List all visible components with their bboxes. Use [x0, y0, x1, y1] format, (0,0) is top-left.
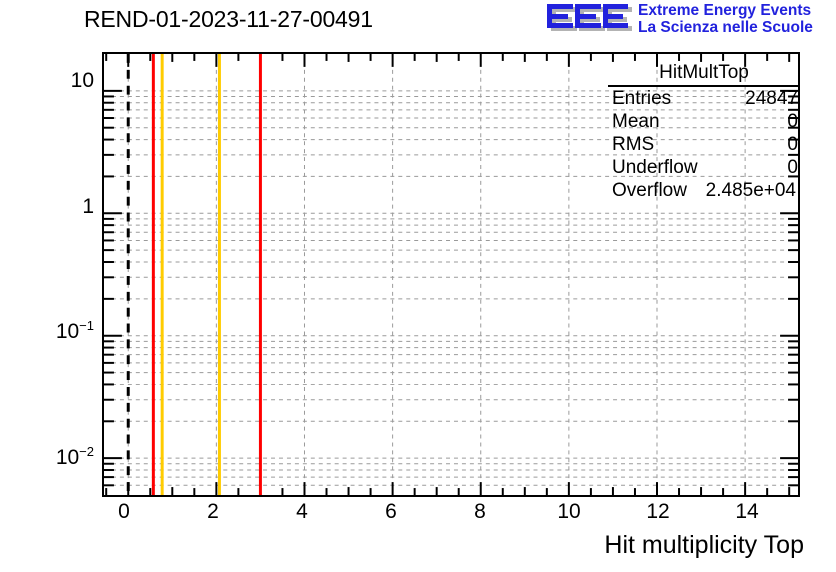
- x-axis-tick-label: 8: [474, 500, 486, 524]
- x-axis-title: Hit multiplicity Top: [604, 531, 804, 560]
- stats-key: Mean: [612, 110, 660, 133]
- stats-row-entries: Entries 24847: [612, 87, 798, 110]
- stats-value: 2.485e+04: [706, 179, 796, 202]
- statistics-box[interactable]: HitMultTop Entries 24847 Mean 0 RMS 0 Un…: [608, 60, 800, 200]
- stats-key: RMS: [612, 133, 654, 156]
- x-axis-tick-label: 10: [557, 500, 580, 524]
- y-axis-tick-label: 10−2: [56, 446, 94, 470]
- eee-logo-line1: Extreme Energy Events: [638, 2, 834, 19]
- stats-row-underflow: Underflow 0: [612, 156, 798, 179]
- eee-logo-text: Extreme Energy Events La Scienza nelle S…: [638, 2, 834, 36]
- stats-value: 0: [787, 110, 798, 133]
- stats-row-overflow: Overflow 2.485e+04: [612, 179, 798, 202]
- stats-value: 0: [787, 156, 798, 179]
- eee-logo-line2: La Scienza nelle Scuole: [638, 19, 834, 36]
- eee-logo: Extreme Energy Events La Scienza nelle S…: [546, 2, 832, 38]
- y-axis-tick-label: 10: [71, 69, 94, 93]
- stats-key: Entries: [612, 87, 671, 110]
- x-axis-tick-label: 2: [207, 500, 219, 524]
- stats-row-rms: RMS 0: [612, 133, 798, 156]
- x-axis-tick-label: 14: [735, 500, 758, 524]
- stats-value: 0: [787, 133, 798, 156]
- x-axis-tick-label: 0: [118, 500, 130, 524]
- x-axis-tick-label: 6: [385, 500, 397, 524]
- y-axis-tick-label: 10−1: [56, 320, 94, 344]
- x-axis-tick-label: 4: [296, 500, 308, 524]
- eee-logo-letters-icon: [546, 3, 632, 35]
- stats-row-mean: Mean 0: [612, 110, 798, 133]
- stats-key: Underflow: [612, 156, 698, 179]
- y-axis-tick-label: 1: [82, 195, 94, 219]
- stats-key: Overflow: [612, 179, 687, 202]
- page-title: REND-01-2023-11-27-00491: [84, 6, 373, 33]
- stats-value: 24847: [745, 87, 798, 110]
- x-axis-tick-label: 12: [646, 500, 669, 524]
- stats-title: HitMultTop: [608, 60, 800, 87]
